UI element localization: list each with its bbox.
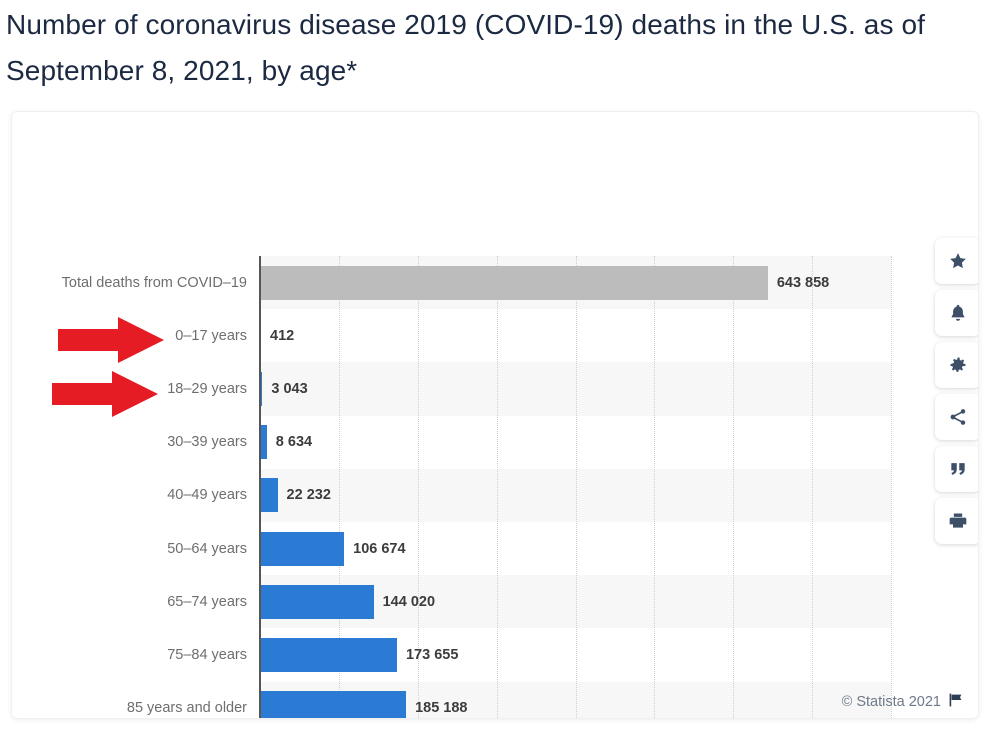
gear-icon bbox=[948, 355, 968, 375]
y-axis-line bbox=[259, 256, 261, 718]
bar-value-label: 173 655 bbox=[406, 638, 458, 672]
quote-icon bbox=[948, 459, 968, 479]
notification-button[interactable] bbox=[935, 290, 978, 336]
bar[interactable] bbox=[260, 478, 278, 512]
star-icon bbox=[948, 251, 968, 271]
bar-value-label: 106 674 bbox=[353, 532, 405, 566]
bar-value-label: 8 634 bbox=[276, 425, 312, 459]
arrow-0-17-icon bbox=[58, 315, 166, 365]
chart-card: Total deaths from COVID–190–17 years18–2… bbox=[12, 112, 978, 718]
category-label: 50–64 years bbox=[37, 532, 247, 566]
grid-line bbox=[576, 256, 577, 718]
print-icon bbox=[948, 511, 968, 531]
grid-line bbox=[654, 256, 655, 718]
bell-icon bbox=[948, 303, 968, 323]
category-label: 30–39 years bbox=[37, 425, 247, 459]
copyright-text: © Statista 2021 bbox=[842, 694, 941, 710]
plot-area: 643 8584123 0438 63422 232106 674144 020… bbox=[260, 256, 891, 718]
category-label: Total deaths from COVID–19 bbox=[37, 266, 247, 300]
settings-button[interactable] bbox=[935, 342, 978, 388]
flag-icon[interactable] bbox=[948, 692, 964, 712]
bar[interactable] bbox=[260, 585, 374, 619]
bar[interactable] bbox=[260, 691, 406, 718]
bar-value-label: 3 043 bbox=[271, 372, 307, 406]
bar[interactable] bbox=[260, 425, 267, 459]
category-label: 75–84 years bbox=[37, 638, 247, 672]
arrow-18-29-icon bbox=[52, 370, 160, 418]
share-icon bbox=[948, 407, 968, 427]
side-toolbar bbox=[935, 238, 978, 544]
bar-value-label: 22 232 bbox=[287, 478, 331, 512]
bar[interactable] bbox=[260, 266, 768, 300]
share-button[interactable] bbox=[935, 394, 978, 440]
bar-value-label: 412 bbox=[270, 319, 294, 353]
bar-value-label: 643 858 bbox=[777, 266, 829, 300]
category-label: 65–74 years bbox=[37, 585, 247, 619]
grid-line bbox=[891, 256, 892, 718]
print-button[interactable] bbox=[935, 498, 978, 544]
bar[interactable] bbox=[260, 532, 344, 566]
footer: © Statista 2021 bbox=[842, 692, 964, 712]
grid-line bbox=[497, 256, 498, 718]
grid-line bbox=[812, 256, 813, 718]
category-label: 85 years and older bbox=[37, 691, 247, 718]
cite-button[interactable] bbox=[935, 446, 978, 492]
favorite-button[interactable] bbox=[935, 238, 978, 284]
bar-value-label: 144 020 bbox=[383, 585, 435, 619]
page-title: Number of coronavirus disease 2019 (COVI… bbox=[6, 2, 956, 94]
bar-value-label: 185 188 bbox=[415, 691, 467, 718]
bar[interactable] bbox=[260, 638, 397, 672]
grid-line bbox=[733, 256, 734, 718]
category-label: 40–49 years bbox=[37, 478, 247, 512]
